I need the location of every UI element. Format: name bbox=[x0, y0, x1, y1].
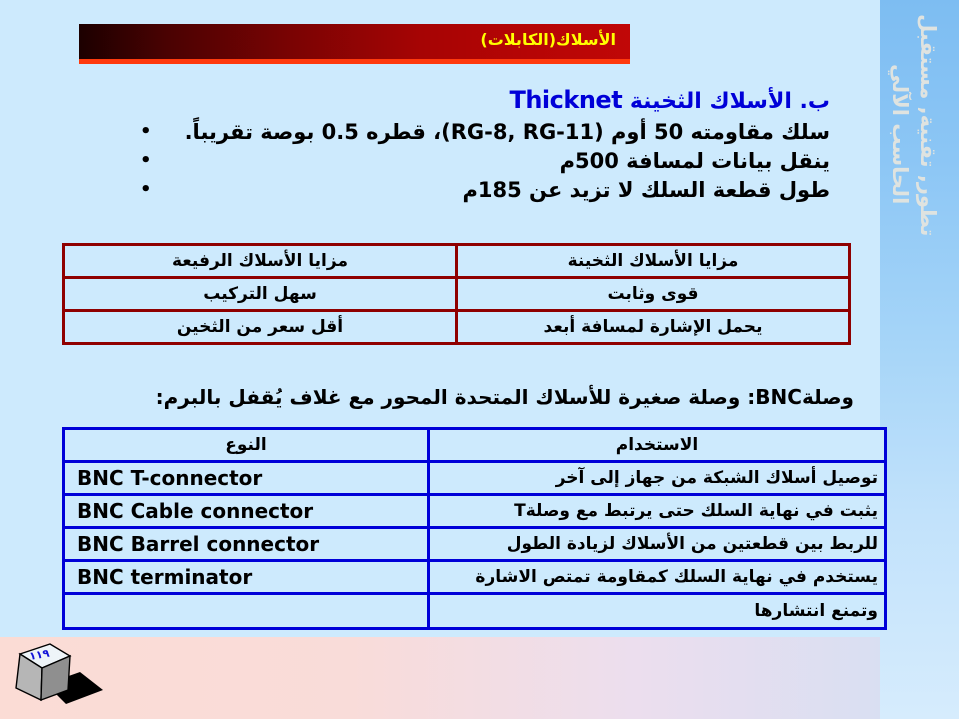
bnc-header-usage: الاستخدام bbox=[429, 429, 886, 462]
sidebar-vertical-text-primary: تطور, تقنية, مستقبل bbox=[916, 14, 940, 236]
table-row: يحمل الإشارة لمسافة أبعد أقل سعر من الثخ… bbox=[64, 311, 850, 344]
section-heading-latin: Thicknet bbox=[509, 86, 622, 114]
bnc-table: الاستخدام النوع توصيل أسلاك الشبكة من جه… bbox=[62, 427, 887, 630]
advantages-cell-thick: قوى وثابت bbox=[457, 278, 850, 311]
advantages-header-thick: مزايا الأسلاك الثخينة bbox=[457, 245, 850, 278]
bnc-cell-type: BNC terminator bbox=[64, 561, 429, 594]
bnc-cell-type bbox=[64, 594, 429, 629]
advantages-cell-thin: سهل التركيب bbox=[64, 278, 457, 311]
table-row: توصيل أسلاك الشبكة من جهاز إلى آخر BNC T… bbox=[64, 462, 886, 495]
section-heading-arabic: ب. الأسلاك الثخينة bbox=[630, 89, 830, 114]
bnc-cell-type: BNC Cable connector bbox=[64, 495, 429, 528]
bnc-cell-usage: يثبت في نهاية السلك حتى يرتبط مع وصلةT bbox=[429, 495, 886, 528]
bnc-cell-usage: للربط بين قطعتين من الأسلاك لزيادة الطول bbox=[429, 528, 886, 561]
bnc-cell-type: BNC Barrel connector bbox=[64, 528, 429, 561]
bnc-cell-usage: وتمنع انتشارها bbox=[429, 594, 886, 629]
advantages-cell-thin: أقل سعر من الثخين bbox=[64, 311, 457, 344]
bullet-list: سلك مقاومته 50 أوم (RG-8, RG-11)، قطره 0… bbox=[140, 118, 830, 205]
bnc-cell-type: BNC T-connector bbox=[64, 462, 429, 495]
table-row: وتمنع انتشارها bbox=[64, 594, 886, 629]
keyboard-key-icon: ١١٩ bbox=[8, 632, 138, 712]
bnc-header-type: النوع bbox=[64, 429, 429, 462]
bullet-item: طول قطعة السلك لا تزيد عن 185م bbox=[140, 176, 830, 205]
sidebar-decoration: تطور, تقنية, مستقبل الحاسب الآلي bbox=[880, 0, 959, 719]
slide-canvas: تطور, تقنية, مستقبل الحاسب الآلي ١١٩ الأ… bbox=[0, 0, 959, 719]
table-row: يستخدم في نهاية السلك كمقاومة تمتص الاشا… bbox=[64, 561, 886, 594]
table-row: مزايا الأسلاك الثخينة مزايا الأسلاك الرف… bbox=[64, 245, 850, 278]
bnc-cell-usage: يستخدم في نهاية السلك كمقاومة تمتص الاشا… bbox=[429, 561, 886, 594]
bnc-note: وصلةBNC: وصلة صغيرة للأسلاك المتحدة المح… bbox=[156, 385, 854, 409]
slide-title: الأسلاك(الكابلات) bbox=[480, 30, 616, 49]
sidebar-vertical-text-secondary: الحاسب الآلي bbox=[888, 64, 912, 204]
table-row: يثبت في نهاية السلك حتى يرتبط مع وصلةT B… bbox=[64, 495, 886, 528]
table-row: للربط بين قطعتين من الأسلاك لزيادة الطول… bbox=[64, 528, 886, 561]
table-row: قوى وثابت سهل التركيب bbox=[64, 278, 850, 311]
section-heading: ب. الأسلاك الثخينة Thicknet bbox=[140, 86, 830, 116]
advantages-cell-thick: يحمل الإشارة لمسافة أبعد bbox=[457, 311, 850, 344]
table-row: الاستخدام النوع bbox=[64, 429, 886, 462]
advantages-header-thin: مزايا الأسلاك الرفيعة bbox=[64, 245, 457, 278]
bnc-cell-usage: توصيل أسلاك الشبكة من جهاز إلى آخر bbox=[429, 462, 886, 495]
advantages-table: مزايا الأسلاك الثخينة مزايا الأسلاك الرف… bbox=[62, 243, 851, 345]
slide-title-bar: الأسلاك(الكابلات) bbox=[79, 24, 630, 64]
bullet-item: ينقل بيانات لمسافة 500م bbox=[140, 147, 830, 176]
content-text-block: ب. الأسلاك الثخينة Thicknet سلك مقاومته … bbox=[140, 86, 830, 205]
bullet-item: سلك مقاومته 50 أوم (RG-8, RG-11)، قطره 0… bbox=[140, 118, 830, 147]
